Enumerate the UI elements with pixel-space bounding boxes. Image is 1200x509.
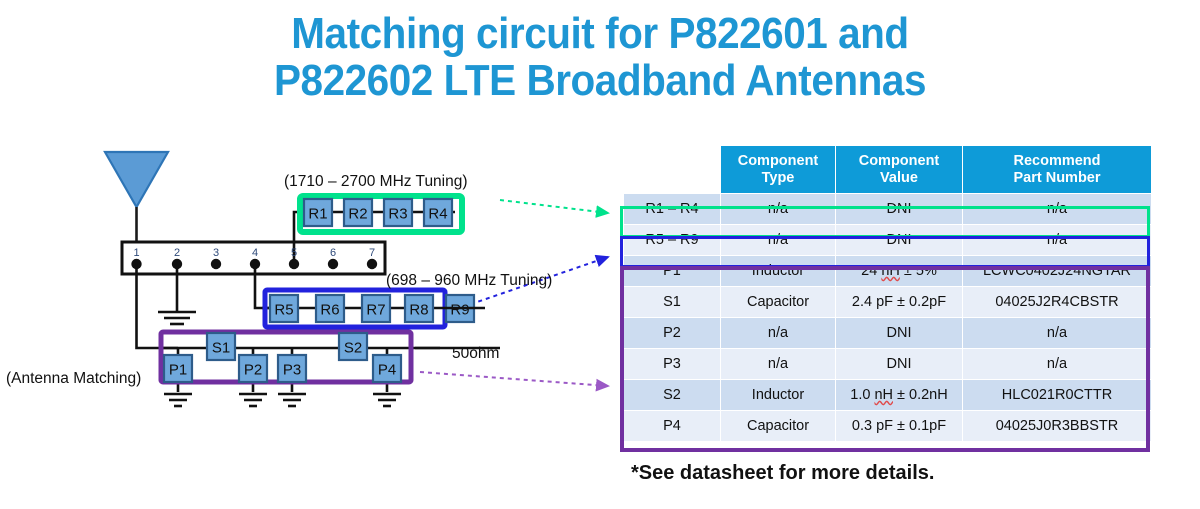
cell-component-type: n/a xyxy=(721,194,836,225)
low-band-label: (698 – 960 MHz Tuning) xyxy=(386,272,552,289)
table-body: R1 – R4n/aDNIn/aR5 – R9n/aDNIn/aP1Induct… xyxy=(624,194,1152,442)
header-component-value: ComponentValue xyxy=(836,146,963,194)
cell-component-value: DNI xyxy=(836,318,963,349)
cell-component-type: Capacitor xyxy=(721,287,836,318)
svg-text:P4: P4 xyxy=(378,362,396,379)
cell-part-number: HLC021R0CTTR xyxy=(963,380,1152,411)
svg-text:R6: R6 xyxy=(320,302,339,319)
cell-part-number: LCWC0402J24NGTAR xyxy=(963,256,1152,287)
svg-text:6: 6 xyxy=(330,247,336,259)
cell-component-value: DNI xyxy=(836,225,963,256)
cell-component-type: Inductor xyxy=(721,380,836,411)
svg-text:S2: S2 xyxy=(344,340,362,357)
header-blank xyxy=(624,146,721,194)
svg-text:R7: R7 xyxy=(366,302,385,319)
svg-text:R3: R3 xyxy=(388,206,407,223)
table-row: S2Inductor1.0 nH ± 0.2nHHLC021R0CTTR xyxy=(624,380,1152,411)
svg-text:S1: S1 xyxy=(212,340,230,357)
svg-text:1: 1 xyxy=(133,247,139,259)
cell-component-type: Inductor xyxy=(721,256,836,287)
cell-component-value: DNI xyxy=(836,194,963,225)
cell-component-value: 24 nH ± 5% xyxy=(836,256,963,287)
cell-part-number: n/a xyxy=(963,349,1152,380)
cell-component-value: 0.3 pF ± 0.1pF xyxy=(836,411,963,442)
component-R3[interactable]: R3 xyxy=(384,199,412,226)
cell-ref: P1 xyxy=(624,256,721,287)
svg-text:R9: R9 xyxy=(450,302,469,319)
svg-text:7: 7 xyxy=(369,247,375,259)
svg-text:R5: R5 xyxy=(274,302,293,319)
svg-text:3: 3 xyxy=(213,247,219,259)
cell-ref: S2 xyxy=(624,380,721,411)
cell-component-type: n/a xyxy=(721,225,836,256)
component-P4[interactable]: P4 xyxy=(373,355,401,382)
cell-part-number: n/a xyxy=(963,225,1152,256)
table-header-row: ComponentType ComponentValue RecommendPa… xyxy=(624,146,1152,194)
svg-text:R8: R8 xyxy=(409,302,428,319)
arrow-matching xyxy=(420,372,608,386)
component-P2[interactable]: P2 xyxy=(239,355,267,382)
component-P1[interactable]: P1 xyxy=(164,355,192,382)
component-R6[interactable]: R6 xyxy=(316,295,344,322)
table-row: R5 – R9n/aDNIn/a xyxy=(624,225,1152,256)
component-P3[interactable]: P3 xyxy=(278,355,306,382)
component-R4[interactable]: R4 xyxy=(424,199,452,226)
table-row: S1Capacitor2.4 pF ± 0.2pF04025J2R4CBSTR xyxy=(624,287,1152,318)
svg-text:R1: R1 xyxy=(308,206,327,223)
svg-text:P3: P3 xyxy=(283,362,301,379)
ground-symbol-connector xyxy=(158,312,196,324)
antenna-matching-label: (Antenna Matching) xyxy=(6,370,141,387)
table-row: R1 – R4n/aDNIn/a xyxy=(624,194,1152,225)
svg-text:R4: R4 xyxy=(428,206,447,223)
slide-canvas: Matching circuit for P822601 andP822602 … xyxy=(0,0,1200,509)
cell-component-value: 2.4 pF ± 0.2pF xyxy=(836,287,963,318)
component-S2[interactable]: S2 xyxy=(339,333,367,360)
header-component-type: ComponentType xyxy=(721,146,836,194)
cell-component-type: Capacitor xyxy=(721,411,836,442)
table-row: P3n/aDNIn/a xyxy=(624,349,1152,380)
arrow-high-band xyxy=(500,200,608,213)
cell-ref: R1 – R4 xyxy=(624,194,721,225)
cell-component-value: 1.0 nH ± 0.2nH xyxy=(836,380,963,411)
svg-text:4: 4 xyxy=(252,247,258,259)
component-R8[interactable]: R8 xyxy=(405,295,433,322)
component-R1[interactable]: R1 xyxy=(304,199,332,226)
header-part-number: RecommendPart Number xyxy=(963,146,1152,194)
component-R7[interactable]: R7 xyxy=(362,295,390,322)
cell-ref: P4 xyxy=(624,411,721,442)
svg-text:5: 5 xyxy=(291,247,297,259)
svg-text:2: 2 xyxy=(174,247,180,259)
svg-text:P2: P2 xyxy=(244,362,262,379)
footnote: *See datasheet for more details. xyxy=(631,462,934,485)
cell-part-number: n/a xyxy=(963,318,1152,349)
cell-part-number: 04025J2R4CBSTR xyxy=(963,287,1152,318)
cell-ref: P3 xyxy=(624,349,721,380)
component-R5[interactable]: R5 xyxy=(270,295,298,322)
component-S1[interactable]: S1 xyxy=(207,333,235,360)
cell-ref: P2 xyxy=(624,318,721,349)
impedance-label: 50ohm xyxy=(452,345,499,362)
component-R2[interactable]: R2 xyxy=(344,199,372,226)
cell-part-number: 04025J0R3BBSTR xyxy=(963,411,1152,442)
cell-ref: S1 xyxy=(624,287,721,318)
cell-component-value: DNI xyxy=(836,349,963,380)
svg-text:R2: R2 xyxy=(348,206,367,223)
table-row: P4Capacitor0.3 pF ± 0.1pF04025J0R3BBSTR xyxy=(624,411,1152,442)
table-row: P2n/aDNIn/a xyxy=(624,318,1152,349)
svg-text:P1: P1 xyxy=(169,362,187,379)
antenna-icon xyxy=(105,152,168,243)
high-band-label: (1710 – 2700 MHz Tuning) xyxy=(284,173,468,190)
cell-part-number: n/a xyxy=(963,194,1152,225)
cell-component-type: n/a xyxy=(721,349,836,380)
component-table: ComponentType ComponentValue RecommendPa… xyxy=(623,145,1152,442)
table-row: P1Inductor24 nH ± 5%LCWC0402J24NGTAR xyxy=(624,256,1152,287)
cell-ref: R5 – R9 xyxy=(624,225,721,256)
cell-component-type: n/a xyxy=(721,318,836,349)
